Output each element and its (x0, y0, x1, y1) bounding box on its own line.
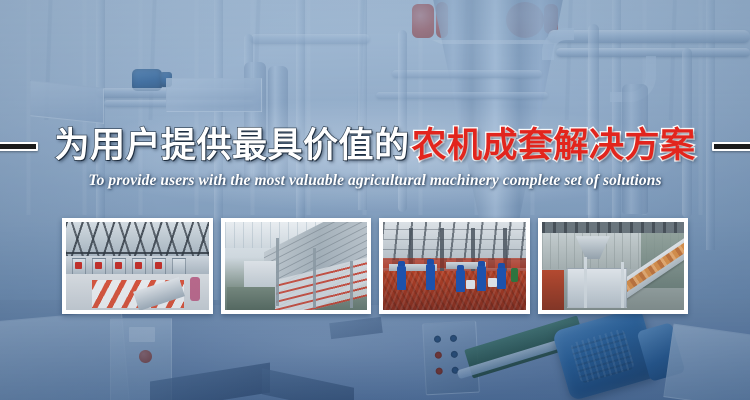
thumbnail-item-4[interactable] (538, 218, 689, 314)
thumbnail-image-warehouse (66, 222, 209, 310)
thumbnail-image-conveyor-line (225, 222, 368, 310)
thumbnail-item-1[interactable] (62, 218, 213, 314)
background-photo (0, 0, 750, 400)
thumbnail-image-belt-elevator (542, 222, 685, 310)
right-dash-ornament (712, 142, 750, 151)
thumbnail-item-3[interactable] (379, 218, 530, 314)
headline-row: 为用户提供最具价值的 农机成套解决方案 (0, 120, 750, 172)
left-dash-ornament (0, 142, 38, 151)
headline-red-text: 农机成套解决方案 (412, 129, 696, 164)
thumbnail-image-chili-workers (383, 222, 526, 310)
thumbnail-item-2[interactable] (221, 218, 372, 314)
promotional-banner: 为用户提供最具价值的 农机成套解决方案 To provide users wit… (0, 0, 750, 400)
subtitle-text: To provide users with the most valuable … (0, 172, 750, 190)
thumbnail-strip (62, 218, 688, 314)
headline-white-text: 为用户提供最具价值的 (54, 129, 409, 164)
